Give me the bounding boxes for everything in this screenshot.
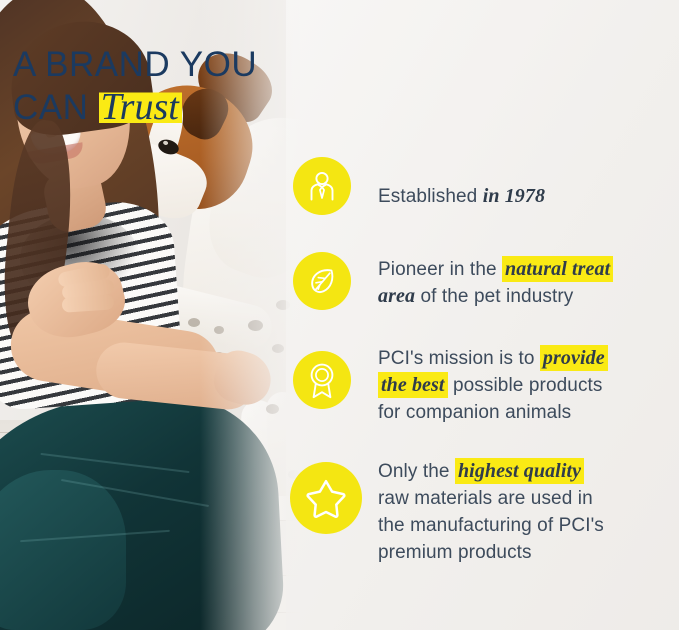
text-segment: premium products xyxy=(378,542,532,563)
headline-line-2-prefix: CAN xyxy=(13,88,99,127)
dog-spot xyxy=(272,344,284,353)
businessman-icon xyxy=(293,157,351,215)
text-segment: raw materials are used in xyxy=(378,488,593,509)
text-segment: Only the xyxy=(378,461,455,482)
dog-spot xyxy=(214,326,224,334)
text-segment-emphasis: area xyxy=(378,285,415,307)
text-segment-highlight: natural treat xyxy=(502,256,613,282)
feature-line: Established in 1978 xyxy=(378,183,545,210)
dog-spot xyxy=(266,404,279,414)
brand-trust-infographic: A BRAND YOU CAN Trust Established in 197… xyxy=(0,0,679,630)
leaf-icon xyxy=(293,252,351,310)
feature-text-pioneer: Pioneer in the natural treat area of the… xyxy=(378,256,613,310)
feature-line: PCI's mission is to provide xyxy=(378,345,608,372)
page-title: A BRAND YOU CAN Trust xyxy=(13,44,393,129)
feature-line: raw materials are used in xyxy=(378,485,604,512)
award-ribbon-icon xyxy=(293,351,351,409)
text-segment: possible products xyxy=(448,375,603,396)
text-segment: the manufacturing of PCI's xyxy=(378,515,604,536)
feature-line: Only the highest quality xyxy=(378,458,604,485)
text-segment: Established xyxy=(378,186,483,207)
text-segment: PCI's mission is to xyxy=(378,348,540,369)
text-segment-highlight: the best xyxy=(378,372,448,398)
text-segment: for companion animals xyxy=(378,402,571,423)
feature-line: the manufacturing of PCI's xyxy=(378,512,604,539)
text-segment-emphasis: in 1978 xyxy=(483,185,545,207)
feature-text-mission: PCI's mission is to provide the best pos… xyxy=(378,345,608,426)
text-segment-highlight: highest quality xyxy=(455,458,584,484)
headline-emphasis-trust: Trust xyxy=(99,86,182,128)
dog-spot xyxy=(188,318,200,327)
star-icon xyxy=(290,462,362,534)
headline-line-2: CAN Trust xyxy=(13,86,393,129)
feature-line: Pioneer in the natural treat xyxy=(378,256,613,283)
feature-line: the best possible products xyxy=(378,372,608,399)
feature-text-established: Established in 1978 xyxy=(378,183,545,210)
text-segment-highlight: provide xyxy=(540,345,608,371)
dog-spot xyxy=(248,320,263,331)
feature-text-quality: Only the highest quality raw materials a… xyxy=(378,458,604,566)
feature-line: area of the pet industry xyxy=(378,283,613,310)
headline-line-1: A BRAND YOU xyxy=(13,44,393,86)
feature-line: premium products xyxy=(378,539,604,566)
text-segment: of the pet industry xyxy=(415,286,573,307)
text-segment: Pioneer in the xyxy=(378,259,502,280)
feature-line: for companion animals xyxy=(378,399,608,426)
woman-knee xyxy=(0,470,126,630)
